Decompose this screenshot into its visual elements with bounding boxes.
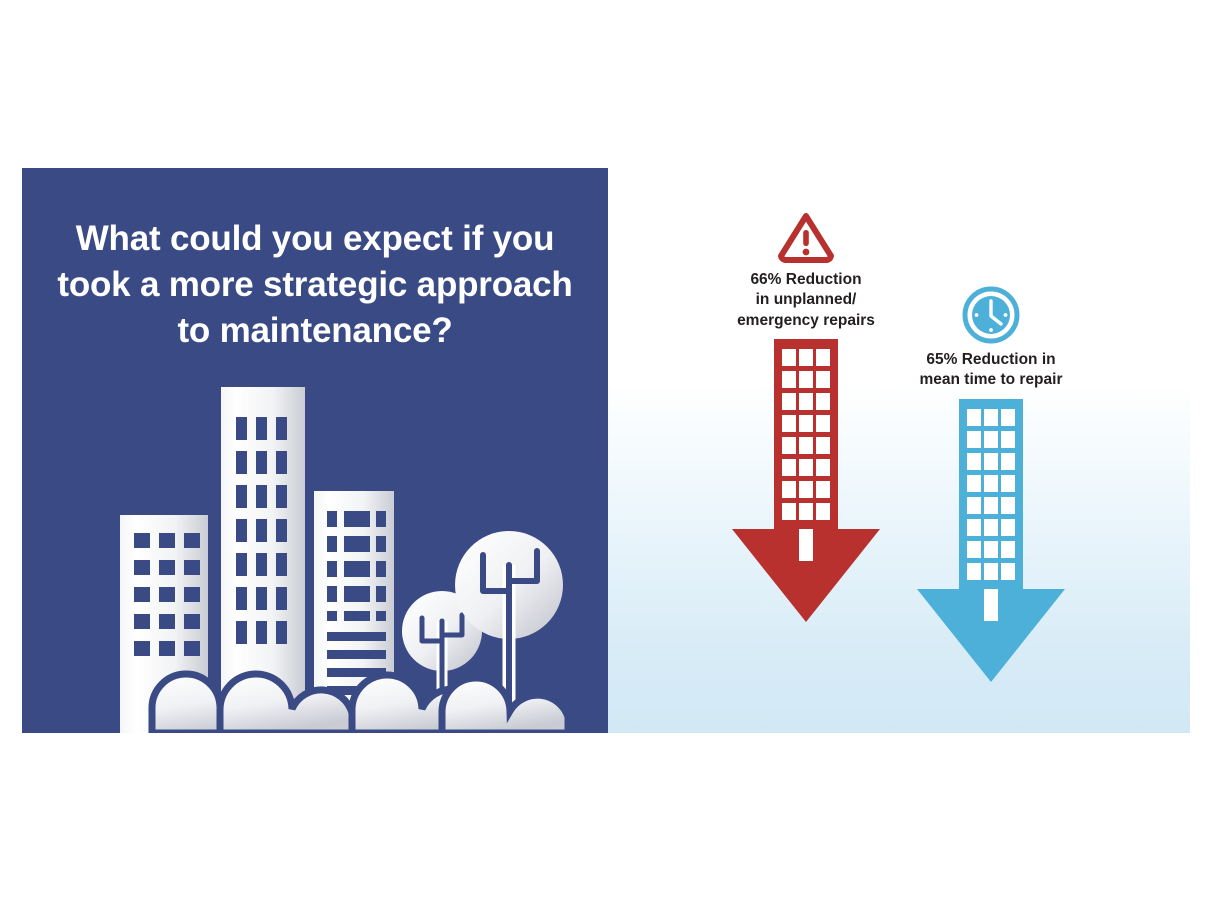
headline-panel: What could you expect if you took a more…: [22, 168, 608, 733]
stat-unplanned-label: 66% Reduction in unplanned/ emergency re…: [706, 270, 906, 331]
stat-unplanned-repairs: 66% Reduction in unplanned/ emergency re…: [706, 210, 906, 624]
clock-icon: [962, 286, 1020, 344]
city-skyline-illustration: [22, 373, 608, 733]
building-down-arrow-blue: [915, 399, 1067, 684]
infographic-canvas: What could you expect if you took a more…: [0, 0, 1220, 916]
warning-triangle-icon: [776, 210, 836, 264]
page-title: What could you expect if you took a more…: [22, 216, 608, 355]
stat-mean-time-to-repair: 65% Reduction in mean time to repair: [891, 286, 1091, 684]
stats-panel: 66% Reduction in unplanned/ emergency re…: [608, 168, 1190, 733]
stat-mttr-label: 65% Reduction in mean time to repair: [891, 350, 1091, 391]
building-down-arrow-red: [730, 339, 882, 624]
